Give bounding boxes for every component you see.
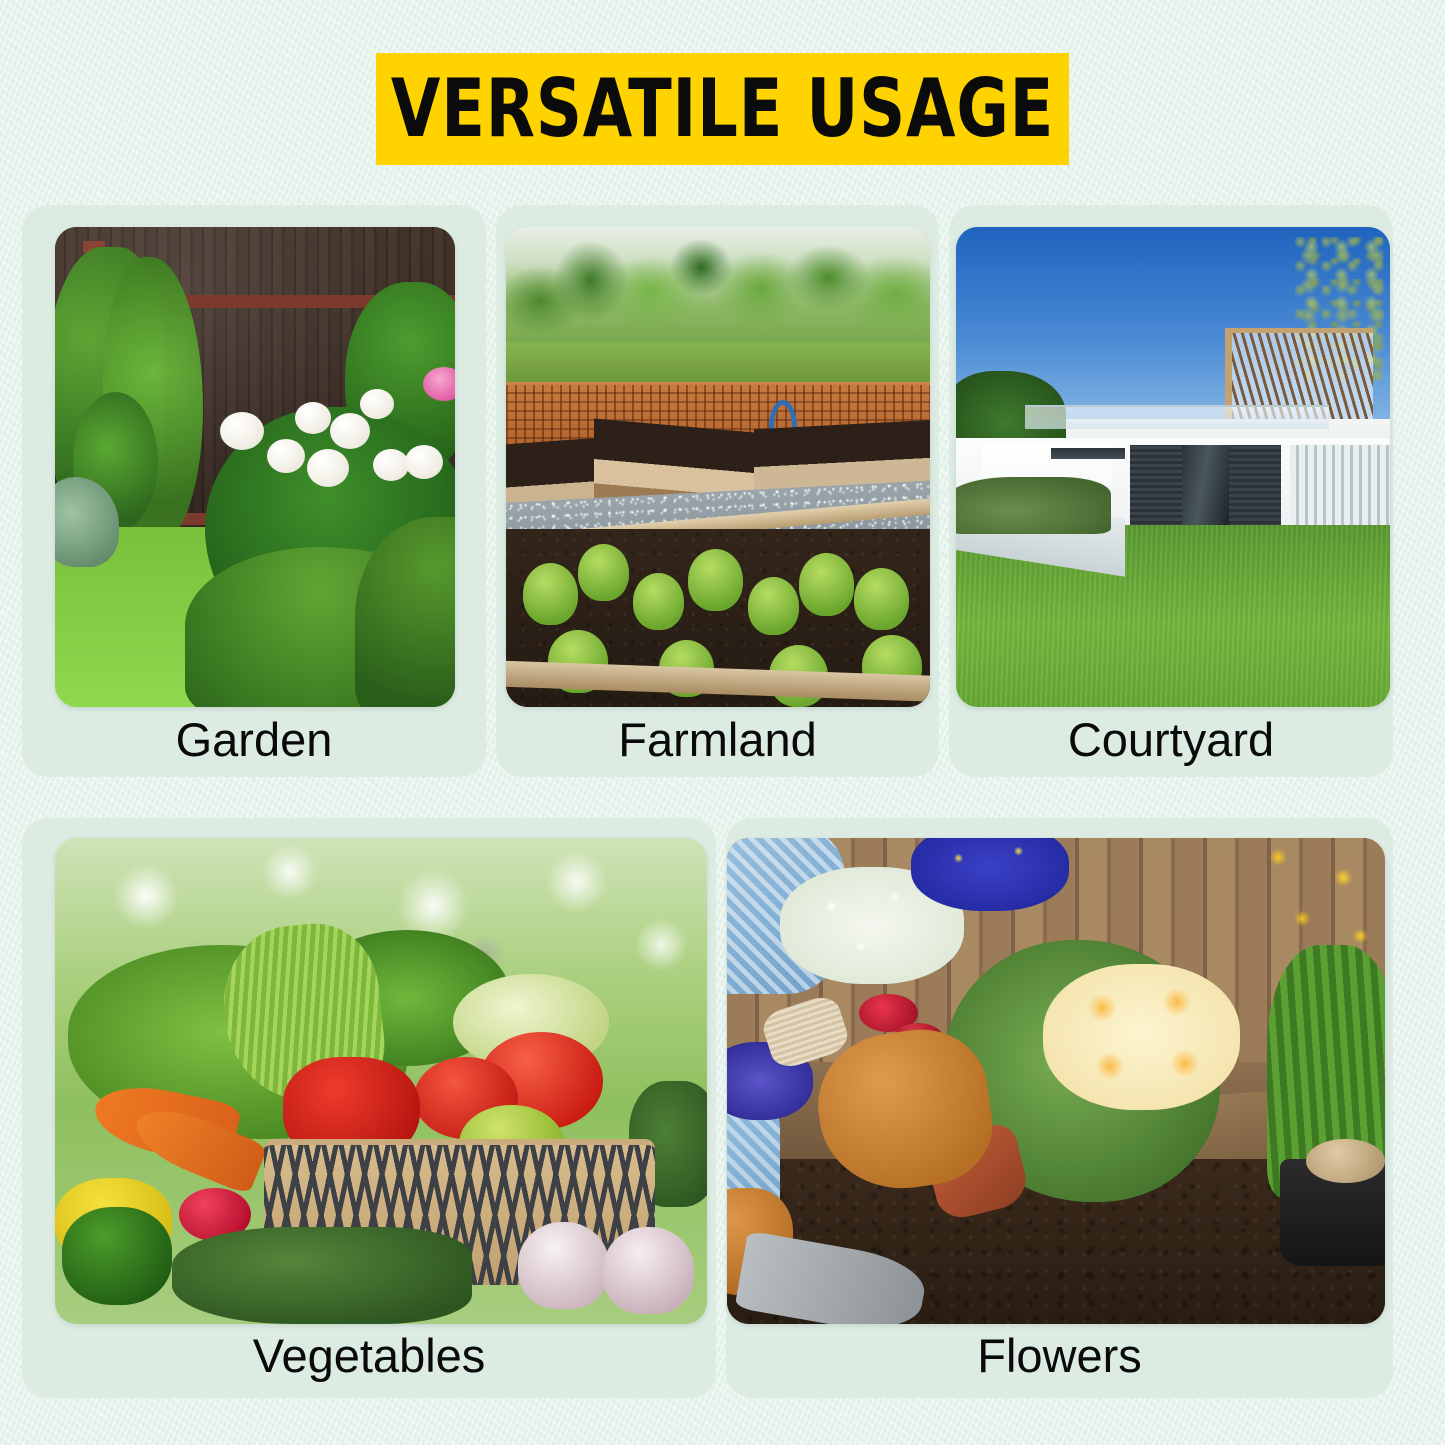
white-peony-5 [360, 389, 394, 419]
white-peony-8 [405, 445, 443, 479]
cucumbers [172, 1227, 472, 1324]
card-label-flowers: Flowers [726, 1332, 1393, 1379]
lettuce-seedling-2 [578, 544, 629, 602]
card-label-farmland: Farmland [496, 716, 939, 763]
lettuce-seedling-3 [633, 573, 684, 631]
photo-farmland [506, 227, 930, 707]
roof-terrace-railing [1025, 405, 1329, 429]
flower-bulb [1306, 1139, 1385, 1183]
lettuce-seedling-5 [748, 577, 799, 635]
white-peony-2 [267, 439, 305, 473]
photo-flowers [727, 838, 1385, 1324]
daffodil-blooms [1227, 838, 1385, 974]
card-label-vegetables: Vegetables [22, 1332, 716, 1379]
garlic-bulb-2 [603, 1227, 694, 1314]
photo-courtyard [956, 227, 1390, 707]
white-peony-4 [330, 413, 370, 449]
green-pepper [62, 1207, 173, 1304]
garlic-bulb-1 [518, 1222, 609, 1309]
lettuce-seedling-7 [854, 568, 909, 630]
photo-vegetables [55, 838, 707, 1324]
card-label-garden: Garden [22, 716, 486, 763]
louvered-panel-right [1229, 445, 1281, 527]
white-peony-1 [220, 412, 264, 450]
white-peony-7 [373, 449, 409, 481]
card-label-courtyard: Courtyard [949, 716, 1393, 763]
white-peony-3 [295, 402, 331, 434]
photo-garden [55, 227, 455, 707]
sliding-glass-door [1182, 445, 1230, 527]
blue-primulas [911, 838, 1069, 911]
lettuce-seedling-4 [688, 549, 743, 611]
title-banner: VERSATILE USAGE [376, 53, 1069, 165]
vertical-blinds-window [1290, 445, 1390, 527]
lettuce-seedling-6 [799, 553, 854, 615]
border-shrubs [956, 477, 1111, 535]
cream-orange-primula [1043, 964, 1240, 1110]
clerestory-window [1051, 448, 1125, 460]
page-title: VERSATILE USAGE [391, 69, 1054, 149]
louvered-panel-left [1130, 445, 1182, 527]
lettuce-seedling-1 [523, 563, 578, 625]
white-peony-6 [307, 449, 349, 487]
